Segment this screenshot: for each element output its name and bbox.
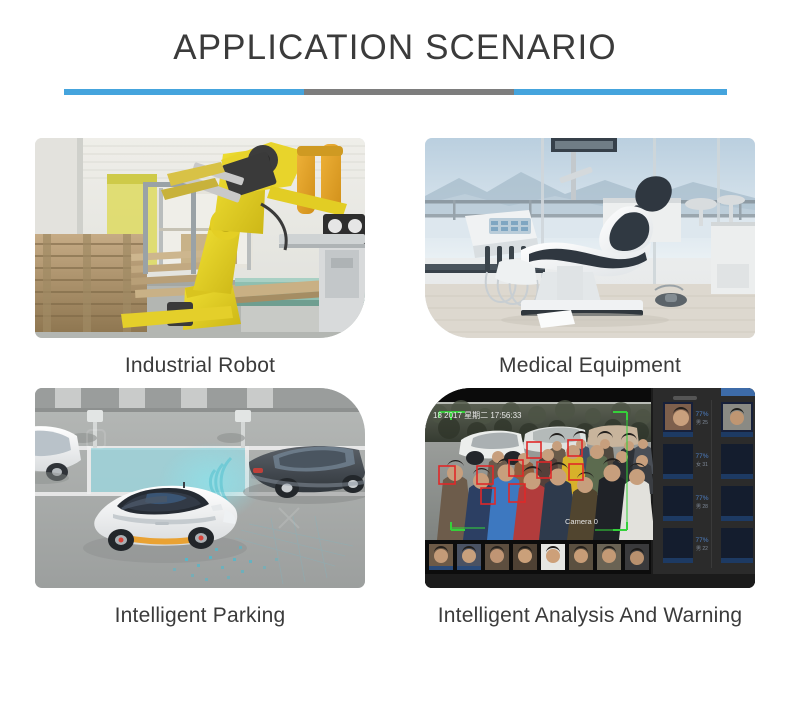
title-divider (64, 89, 727, 95)
intelligent-analysis-caption: Intelligent Analysis And Warning (425, 602, 755, 630)
industrial-robot-image (35, 138, 365, 338)
medical-equipment-image (425, 138, 755, 338)
page-header: APPLICATION SCENARIO (0, 0, 790, 95)
svg-text:77%: 77% (695, 453, 708, 460)
svg-text:男 25: 男 25 (696, 420, 708, 426)
video-timestamp-overlay: 18 2017 星期二 17:56:33 (433, 411, 522, 420)
scenario-card-industrial-robot[interactable]: Industrial Robot (35, 138, 365, 380)
intelligent-analysis-image: 18 2017 星期二 17:56:33 Camera 0 (425, 388, 755, 588)
application-scenario-page: APPLICATION SCENARIO (0, 0, 790, 720)
video-camera-label: Camera 0 (565, 517, 598, 526)
scenario-card-medical-equipment[interactable]: Medical Equipment (425, 138, 755, 380)
analytics-side-panel: 77% 男 25 77% 女 31 (653, 388, 755, 588)
svg-text:77%: 77% (695, 495, 708, 502)
svg-text:男 28: 男 28 (696, 504, 708, 510)
divider-segment-gray (304, 89, 514, 95)
page-title: APPLICATION SCENARIO (0, 26, 790, 70)
intelligent-analysis-illustration: 18 2017 星期二 17:56:33 Camera 0 (425, 388, 755, 588)
intelligent-parking-illustration (35, 388, 365, 588)
svg-text:男 22: 男 22 (696, 546, 708, 552)
svg-text:女 31: 女 31 (696, 461, 708, 468)
intelligent-parking-image (35, 388, 365, 588)
intelligent-parking-caption: Intelligent Parking (35, 602, 365, 630)
divider-segment-blue-right (514, 89, 727, 95)
divider-segment-blue-left (64, 89, 304, 95)
industrial-robot-illustration (35, 138, 365, 338)
scenario-card-intelligent-parking[interactable]: Intelligent Parking (35, 388, 365, 630)
industrial-robot-caption: Industrial Robot (35, 352, 365, 380)
medical-equipment-illustration (425, 138, 755, 338)
scenario-grid: Industrial Robot (35, 138, 755, 630)
scenario-card-intelligent-analysis[interactable]: 18 2017 星期二 17:56:33 Camera 0 (425, 388, 755, 630)
svg-text:77%: 77% (695, 537, 708, 544)
medical-equipment-caption: Medical Equipment (425, 352, 755, 380)
svg-text:77%: 77% (695, 411, 708, 418)
